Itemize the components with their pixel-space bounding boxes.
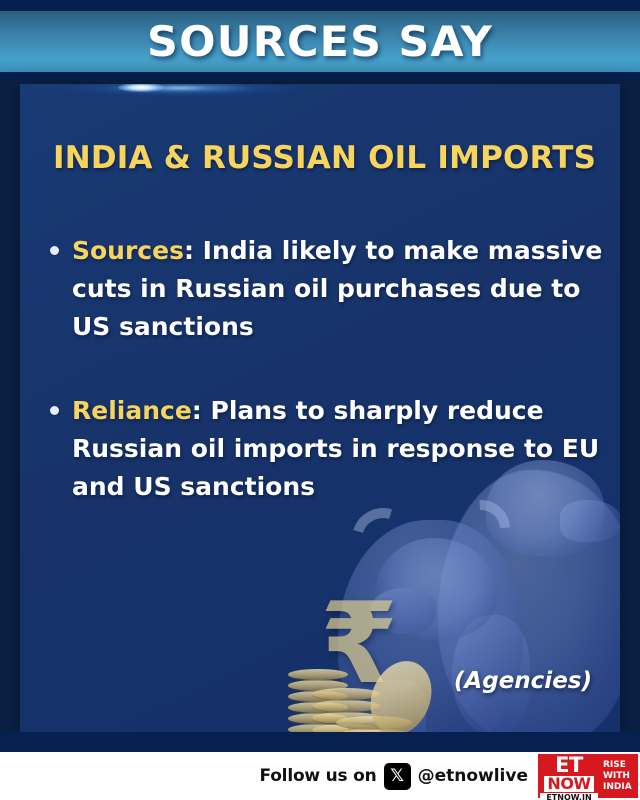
logo-tagline: RISE WITH INDIA bbox=[598, 756, 636, 796]
header-title: SOURCES SAY bbox=[0, 11, 640, 72]
bullet-lead: Reliance bbox=[72, 396, 192, 425]
list-item: Reliance: Plans to sharply reduce Russia… bbox=[50, 392, 620, 506]
bullet-separator: : bbox=[192, 396, 202, 425]
social-handle[interactable]: @etnowlive bbox=[418, 766, 528, 786]
infographic-root: SOURCES SAY INDIA & RUSSIAN OIL IMPORTS … bbox=[0, 0, 640, 800]
bullet-dot-icon bbox=[50, 406, 59, 415]
rupee-symbol-icon: ₹ bbox=[320, 588, 398, 700]
bull-muzzle-icon bbox=[370, 588, 436, 634]
content-card: INDIA & RUSSIAN OIL IMPORTS Sources: Ind… bbox=[20, 84, 620, 732]
logo-et-text: ET bbox=[555, 756, 583, 775]
logo-tagline-line1: RISE bbox=[603, 760, 636, 771]
logo-tagline-line2: WITH bbox=[603, 771, 636, 782]
etnow-logo[interactable]: ET NOW ETNOW.IN RISE WITH INDIA bbox=[538, 754, 638, 798]
coin-tilted-icon bbox=[360, 652, 442, 732]
x-twitter-icon[interactable]: 𝕏 bbox=[384, 763, 411, 790]
etnow-logo-mark: ET NOW ETNOW.IN bbox=[540, 756, 598, 796]
page-title: INDIA & RUSSIAN OIL IMPORTS bbox=[53, 140, 613, 176]
bull-head-icon bbox=[375, 538, 497, 640]
follow-label: Follow us on bbox=[259, 766, 376, 786]
bullet-separator: : bbox=[184, 236, 194, 265]
footer-bar: Follow us on 𝕏 @etnowlive ET NOW ETNOW.I… bbox=[0, 752, 640, 800]
source-credit: (Agencies) bbox=[454, 668, 592, 694]
lens-flare-glow-icon bbox=[60, 84, 300, 96]
bullet-dot-icon bbox=[50, 246, 59, 255]
card-shadow-strip bbox=[0, 732, 640, 752]
logo-url-text: ETNOW.IN bbox=[540, 793, 598, 800]
header-banner: SOURCES SAY bbox=[0, 0, 640, 78]
bullet-lead: Sources bbox=[72, 236, 184, 265]
bullet-text: Sources: India likely to make massive cu… bbox=[72, 232, 608, 346]
bull-leg-icon bbox=[372, 680, 426, 732]
bullet-list: Sources: India likely to make massive cu… bbox=[50, 232, 620, 552]
list-item: Sources: India likely to make massive cu… bbox=[50, 232, 620, 346]
bullet-text: Reliance: Plans to sharply reduce Russia… bbox=[72, 392, 608, 506]
logo-tagline-line3: INDIA bbox=[603, 782, 636, 793]
logo-now-text: NOW bbox=[544, 776, 593, 792]
